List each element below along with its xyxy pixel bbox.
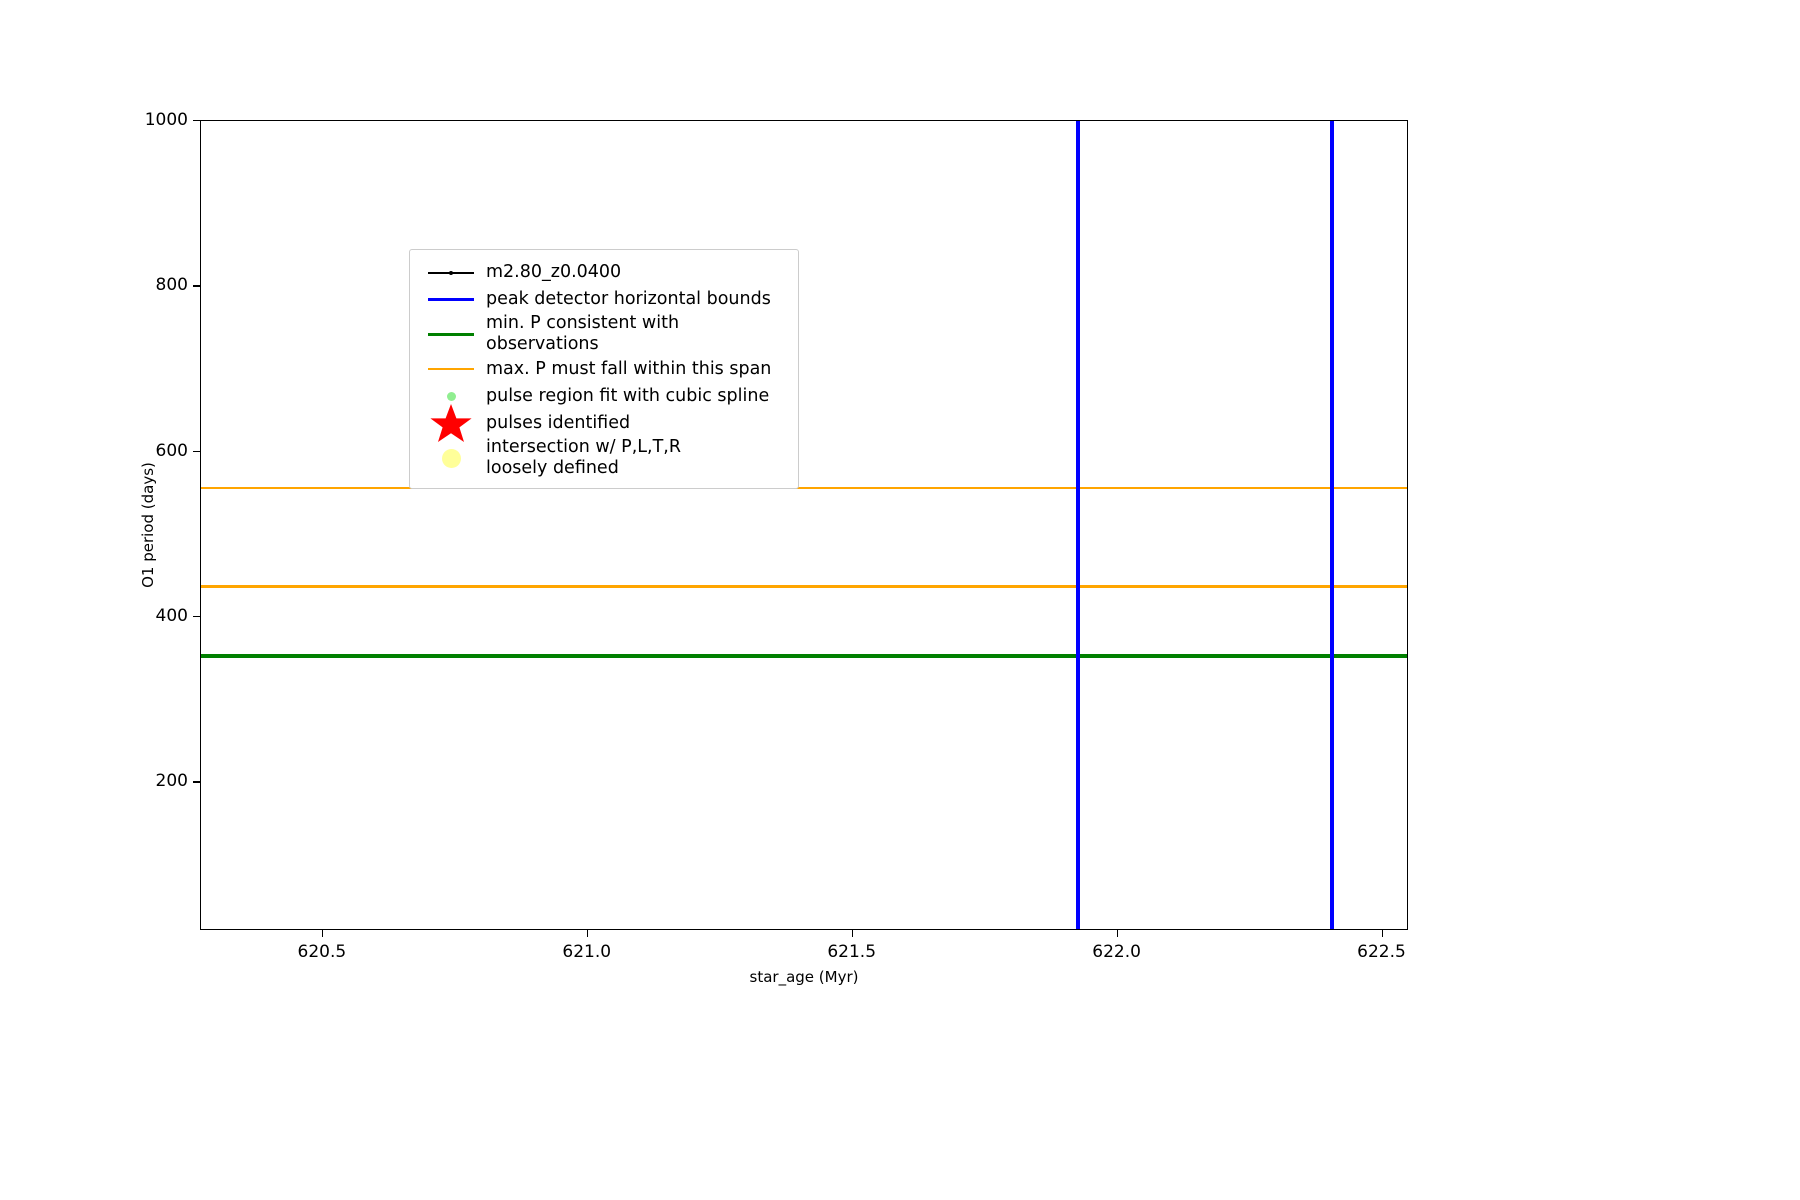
legend-item-track[interactable]: m2.80_z0.0400 bbox=[420, 259, 788, 286]
y-tick-mark bbox=[193, 616, 200, 617]
y-tick-label: 600 bbox=[156, 441, 188, 461]
x-tick-label: 622.5 bbox=[1357, 942, 1406, 962]
series-pulses-identified bbox=[201, 121, 1407, 929]
x-tick-mark bbox=[1117, 930, 1118, 937]
x-axis-label: star_age (Myr) bbox=[750, 968, 859, 986]
y-tick-label: 200 bbox=[156, 771, 188, 791]
legend-label-peak-bounds: peak detector horizontal bounds bbox=[482, 289, 771, 310]
x-tick-label: 621.5 bbox=[827, 942, 876, 962]
line-marker-icon bbox=[420, 260, 482, 286]
y-tick-mark bbox=[193, 120, 200, 121]
y-axis-label: O1 period (days) bbox=[139, 462, 157, 588]
legend-label-min-period: min. P consistent with observations bbox=[482, 313, 788, 356]
x-tick-label: 622.0 bbox=[1092, 942, 1141, 962]
y-tick-label: 400 bbox=[156, 606, 188, 626]
x-tick-mark bbox=[322, 930, 323, 937]
legend: m2.80_z0.0400 peak detector horizontal b… bbox=[409, 249, 799, 489]
legend-item-min-period[interactable]: min. P consistent with observations bbox=[420, 313, 788, 356]
x-tick-mark bbox=[852, 930, 853, 937]
legend-label-max-span: max. P must fall within this span bbox=[482, 359, 771, 380]
x-tick-mark bbox=[587, 930, 588, 937]
line-icon bbox=[420, 321, 482, 347]
x-tick-label: 621.0 bbox=[562, 942, 611, 962]
legend-label-track: m2.80_z0.0400 bbox=[482, 262, 621, 283]
legend-item-intersection[interactable]: intersection w/ P,L,T,Rloosely defined bbox=[420, 437, 788, 480]
y-tick-label: 1000 bbox=[145, 110, 188, 130]
line-icon bbox=[420, 287, 482, 313]
star-icon bbox=[420, 410, 482, 436]
legend-item-spline[interactable]: pulse region fit with cubic spline bbox=[420, 383, 788, 410]
legend-item-peak-bounds[interactable]: peak detector horizontal bounds bbox=[420, 286, 788, 313]
legend-label-pulses: pulses identified bbox=[482, 413, 630, 434]
big-dot-icon bbox=[420, 445, 482, 471]
y-tick-mark bbox=[193, 781, 200, 782]
legend-item-max-span[interactable]: max. P must fall within this span bbox=[420, 356, 788, 383]
legend-label-spline: pulse region fit with cubic spline bbox=[482, 386, 769, 407]
figure: m2.80_z0.0400 peak detector horizontal b… bbox=[0, 0, 1800, 1200]
plot-axes: m2.80_z0.0400 peak detector horizontal b… bbox=[200, 120, 1408, 930]
line-icon bbox=[420, 356, 482, 382]
y-tick-label: 800 bbox=[156, 275, 188, 295]
x-tick-label: 620.5 bbox=[298, 942, 347, 962]
y-tick-mark bbox=[193, 451, 200, 452]
legend-item-pulses[interactable]: pulses identified bbox=[420, 410, 788, 437]
y-tick-mark bbox=[193, 285, 200, 286]
legend-label-intersection: intersection w/ P,L,T,Rloosely defined bbox=[482, 437, 681, 480]
x-tick-mark bbox=[1382, 930, 1383, 937]
